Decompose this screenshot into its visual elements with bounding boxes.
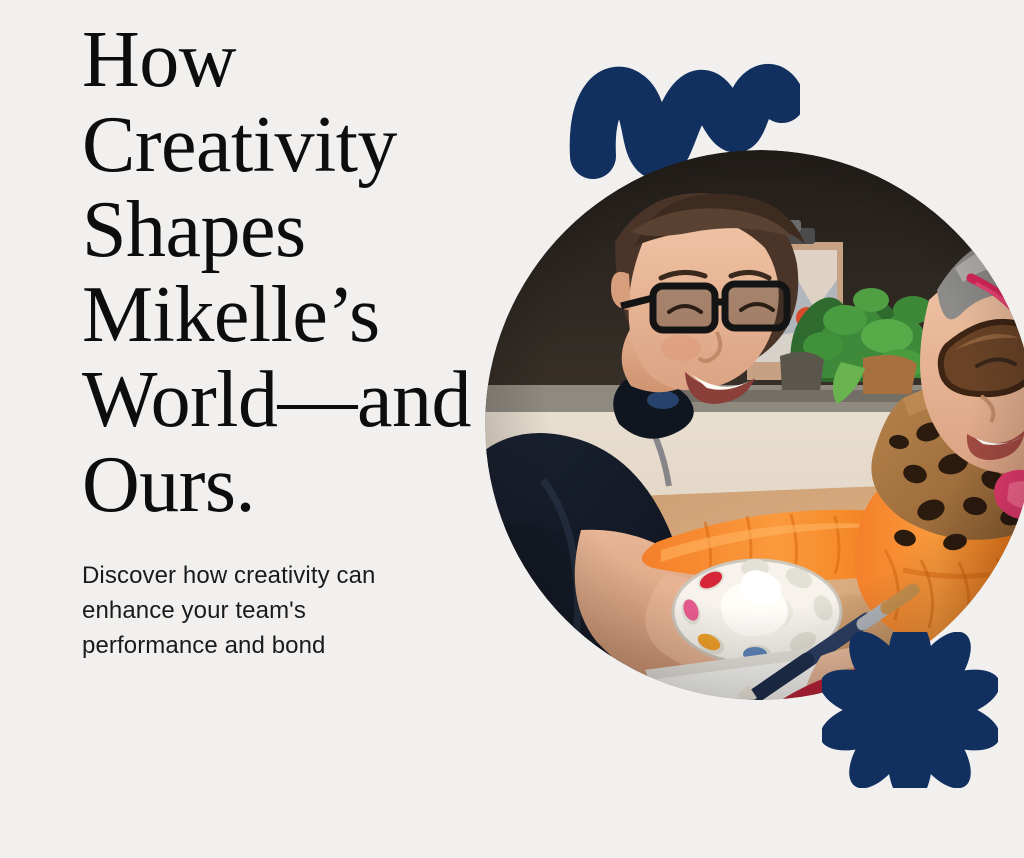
hero-photo — [485, 150, 1024, 700]
hero-banner: How Creativity Shapes Mikelle’s World—an… — [0, 0, 1024, 858]
hero-text-column: How Creativity Shapes Mikelle’s World—an… — [82, 18, 482, 528]
page-title: How Creativity Shapes Mikelle’s World—an… — [82, 18, 482, 528]
hero-subtitle: Discover how creativity can enhance your… — [82, 558, 452, 663]
